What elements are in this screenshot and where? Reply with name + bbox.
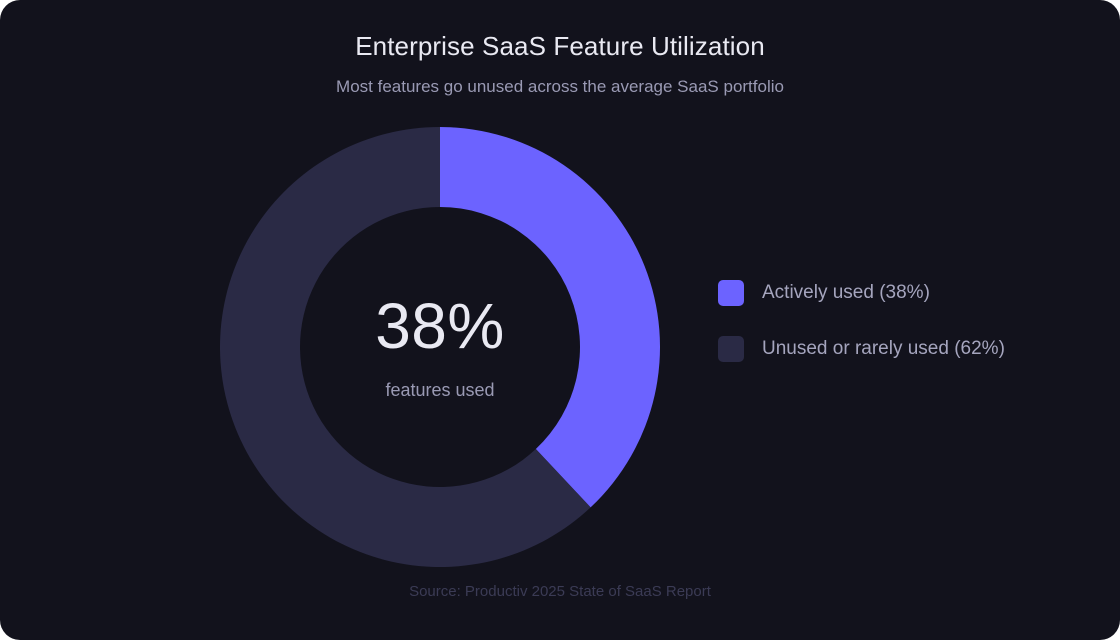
chart-card: Enterprise SaaS Feature Utilization Most… — [0, 0, 1120, 640]
chart-legend: Actively used (38%)Unused or rarely used… — [718, 280, 1005, 362]
legend-label: Unused or rarely used (62%) — [762, 338, 1005, 360]
legend-item[interactable]: Unused or rarely used (62%) — [718, 336, 1005, 362]
donut-slice[interactable] — [440, 127, 660, 507]
legend-swatch-icon — [718, 280, 744, 306]
donut-svg — [220, 127, 660, 567]
legend-item[interactable]: Actively used (38%) — [718, 280, 1005, 306]
chart-subtitle: Most features go unused across the avera… — [0, 77, 1120, 97]
donut-chart: 38% features used — [220, 127, 660, 567]
legend-swatch-icon — [718, 336, 744, 362]
legend-label: Actively used (38%) — [762, 282, 930, 304]
source-note: Source: Productiv 2025 State of SaaS Rep… — [0, 583, 1120, 600]
page-title: Enterprise SaaS Feature Utilization — [0, 31, 1120, 62]
